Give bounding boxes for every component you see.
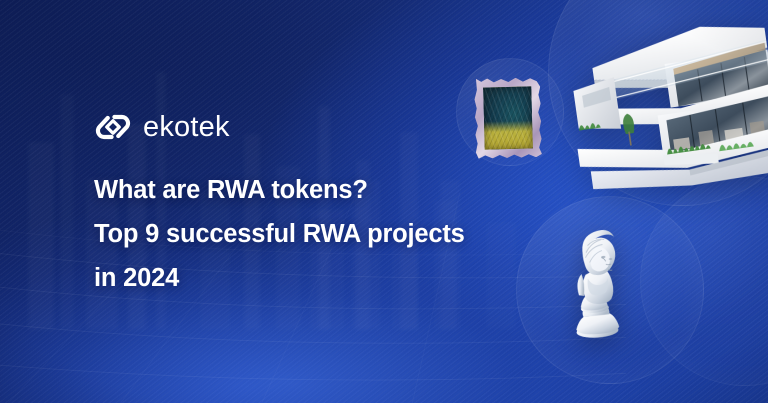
brand-wordmark: ekotek — [143, 113, 230, 142]
modern-villa-image — [549, 4, 768, 202]
framed-painting-image — [474, 77, 542, 159]
ekotek-chain-link-logo-icon — [94, 108, 132, 146]
painting-frame — [474, 77, 542, 159]
headline-line-2: Top 9 successful RWA projects — [94, 212, 524, 256]
headline-line-3: in 2024 — [94, 256, 524, 300]
painting-canvas — [483, 86, 533, 150]
headline-line-1: What are RWA tokens? — [94, 168, 524, 212]
page-title: What are RWA tokens? Top 9 successful RW… — [94, 168, 524, 300]
bubble-faint-right — [640, 176, 768, 386]
marble-bust-statue-image — [554, 219, 640, 342]
rwa-tokens-banner: ekotek What are RWA tokens? Top 9 succes… — [0, 0, 768, 403]
brand-logo[interactable]: ekotek — [94, 108, 230, 146]
